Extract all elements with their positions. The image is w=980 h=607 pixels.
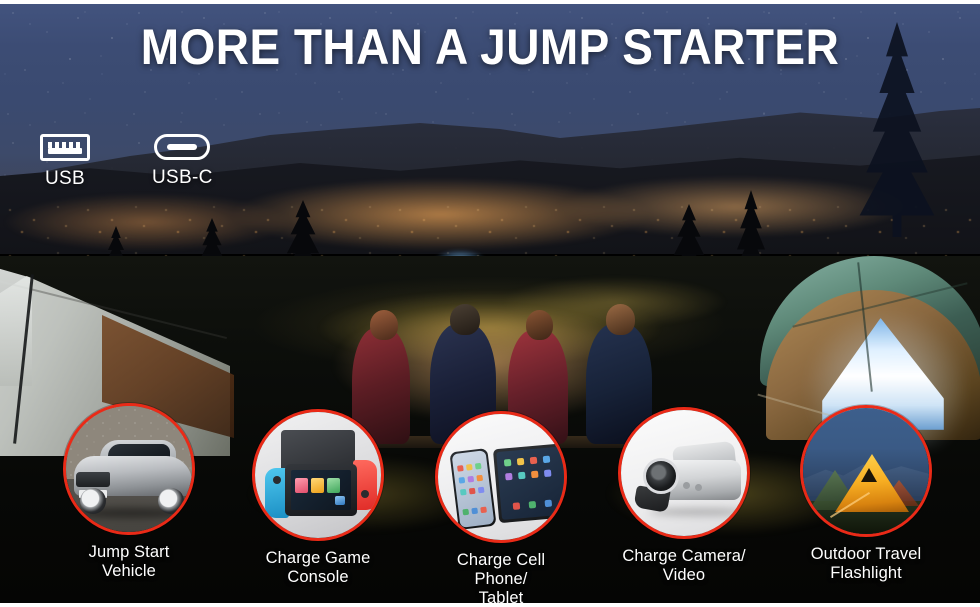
page-title: MORE THAN A JUMP STARTER: [39, 18, 941, 76]
phone-app-icon: [460, 489, 467, 496]
feature-circle-1: [63, 403, 195, 535]
phone-app-icon: [459, 477, 466, 484]
tablet-app-icon: [531, 471, 539, 479]
phone-app-icon: [467, 476, 474, 483]
bottom-trim: [0, 603, 980, 607]
port-usb-c: USB-C: [152, 134, 213, 189]
port-usb-a: USB: [40, 134, 90, 190]
phone-app-icon: [478, 487, 485, 494]
person-4-head: [606, 304, 635, 335]
phone-dock-icon: [462, 509, 469, 516]
phone-dock-icon: [471, 508, 478, 515]
phone-app-icon: [476, 475, 483, 482]
car-front-wheel: [80, 488, 106, 514]
port-usb-c-label: USB-C: [152, 167, 213, 189]
feature-circle-5: [800, 405, 932, 537]
car-icon: [66, 406, 192, 532]
tablet-app-icon: [504, 459, 512, 467]
feature-charge-cell-phone-tablet[interactable]: Charge Cell Phone/ Tablet: [435, 411, 567, 607]
person-1-head: [370, 310, 398, 340]
tablet-app-icon: [543, 456, 551, 464]
car-rear-wheel: [158, 488, 184, 514]
feature-charge-camera-video[interactable]: Charge Camera/ Video: [618, 407, 750, 585]
camcorder-button: [695, 484, 702, 491]
console-screen: [291, 470, 351, 510]
tablet-screen: [496, 446, 567, 520]
tablet-app-icon: [518, 472, 526, 480]
console-screen-tile: [327, 478, 340, 493]
feature-label-1: Jump Start Vehicle: [63, 543, 195, 581]
phone-app-icon: [475, 463, 482, 470]
feature-label-4: Charge Camera/ Video: [618, 547, 750, 585]
feature-label-5: Outdoor Travel Flashlight: [800, 545, 932, 583]
console-left-stick: [273, 476, 281, 484]
phone-tablet-icon: [438, 414, 564, 540]
cell-phone: [449, 448, 496, 530]
phone-dock-icon: [480, 507, 487, 514]
tablet-app-icon: [505, 473, 513, 481]
feature-charge-game-console[interactable]: Charge Game Console: [252, 409, 384, 587]
camcorder-button: [683, 482, 690, 489]
tablet-app-icon: [517, 458, 525, 466]
poster: MORE THAN A JUMP STARTER USB USB-C: [0, 0, 980, 607]
phone-app-icon: [469, 488, 476, 495]
feature-jump-start-vehicle[interactable]: Jump Start Vehicle: [63, 403, 195, 581]
feature-label-2: Charge Game Console: [252, 549, 384, 587]
usb-c-icon-bar: [167, 144, 197, 150]
tablet-dock-icon: [529, 501, 537, 509]
tablet-dock-icon: [545, 500, 553, 508]
port-legend: USB USB-C: [40, 134, 213, 190]
feature-circle-4: [618, 407, 750, 539]
phone-app-icon: [457, 465, 464, 472]
feature-label-3: Charge Cell Phone/ Tablet: [435, 551, 567, 607]
game-console-icon: [255, 412, 381, 538]
tablet-dock-icon: [513, 502, 521, 510]
person-2-head: [450, 304, 480, 335]
cell-phone-screen: [452, 450, 495, 528]
tablet-app-icon: [530, 457, 538, 465]
console-right-stick: [361, 490, 369, 498]
console-screen-tile: [335, 496, 345, 505]
feature-circle-2: [252, 409, 384, 541]
feature-outdoor-travel-flashlight[interactable]: Outdoor Travel Flashlight: [800, 405, 932, 583]
tablet: [493, 443, 567, 523]
usb-a-icon: [40, 134, 90, 161]
person-3-head: [526, 310, 553, 340]
usb-c-icon: [154, 134, 210, 160]
top-trim: [0, 0, 980, 4]
camcorder-lens: [643, 458, 679, 494]
console-screen-tile: [311, 478, 324, 493]
tablet-app-icon: [544, 469, 552, 477]
port-usb-a-label: USB: [45, 168, 85, 190]
feature-circle-3: [435, 411, 567, 543]
camcorder-icon: [621, 410, 747, 536]
console-screen-tile: [295, 478, 308, 493]
usb-a-icon-bar: [48, 148, 82, 154]
car-grille: [76, 472, 110, 487]
tent-icon: [803, 408, 929, 534]
phone-app-icon: [466, 464, 473, 471]
